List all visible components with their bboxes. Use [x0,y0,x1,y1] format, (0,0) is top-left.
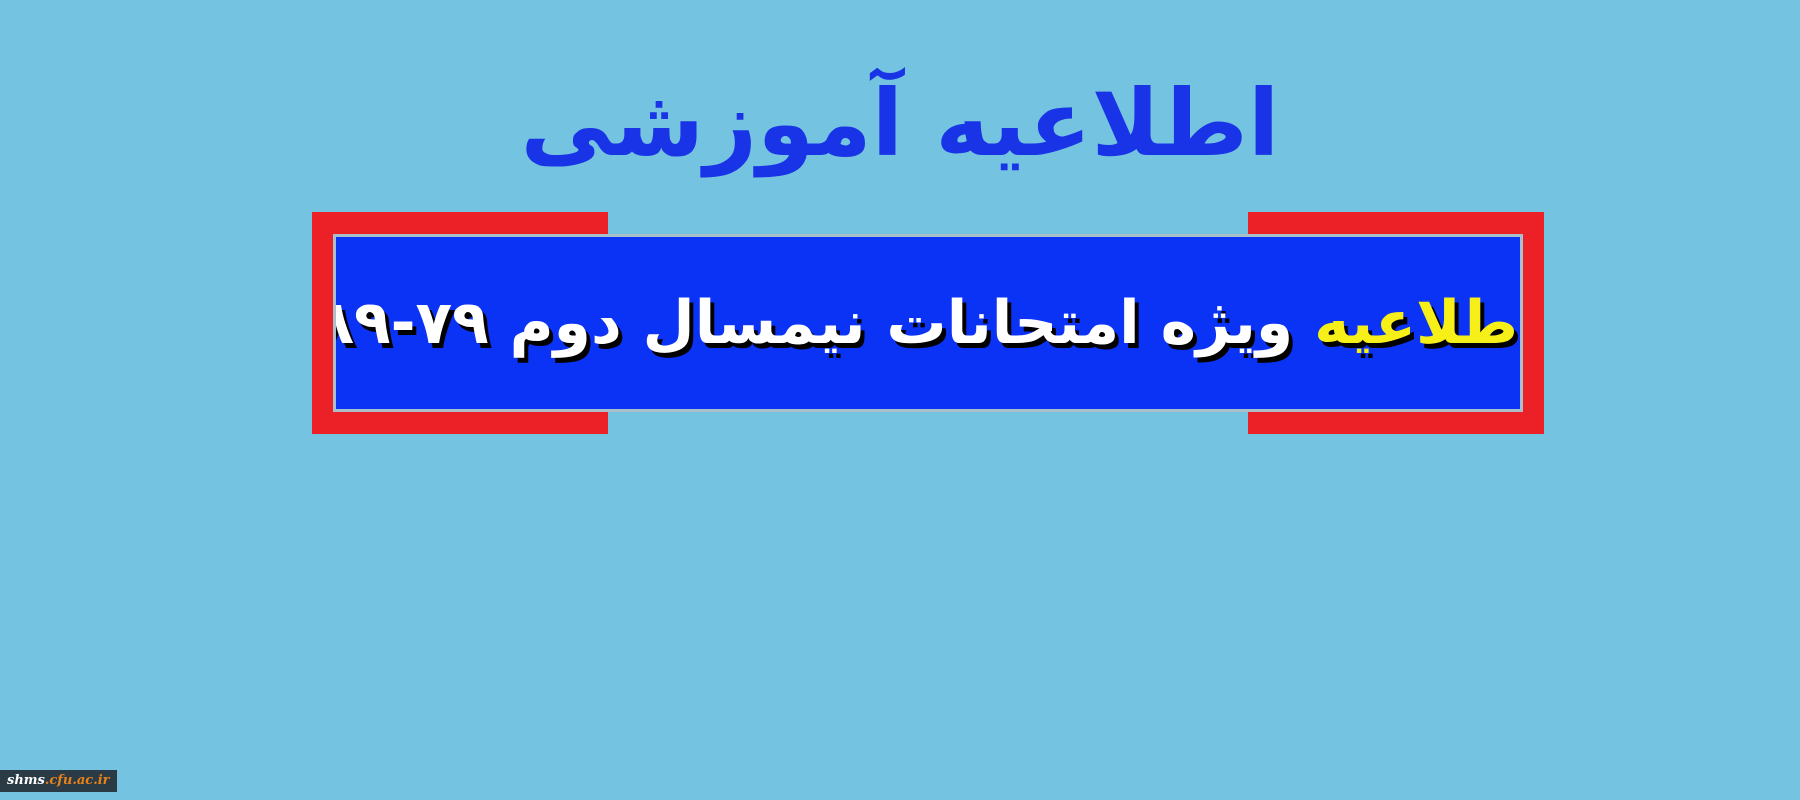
notice-text: اطلاعیه ویژه امتحانات نیمسال دوم ۹۷-۹۸ [333,292,1523,355]
notice-box: اطلاعیه ویژه امتحانات نیمسال دوم ۹۷-۹۸ [333,234,1523,412]
site-watermark: shms.cfu.ac.ir [0,770,117,792]
announcement-slide: اطلاعیه آموزشی اطلاعیه ویژه امتحانات نیم… [0,0,1800,800]
watermark-domain: .cfu.ac.ir [45,773,110,788]
notice-highlight-word: اطلاعیه [1314,288,1523,358]
page-title: اطلاعیه آموزشی [0,72,1800,175]
notice-banner: اطلاعیه ویژه امتحانات نیمسال دوم ۹۷-۹۸ [312,212,1544,434]
watermark-site-name: shms [7,773,45,788]
notice-body-text: ویژه امتحانات نیمسال دوم ۹۷-۹۸ [333,288,1314,358]
